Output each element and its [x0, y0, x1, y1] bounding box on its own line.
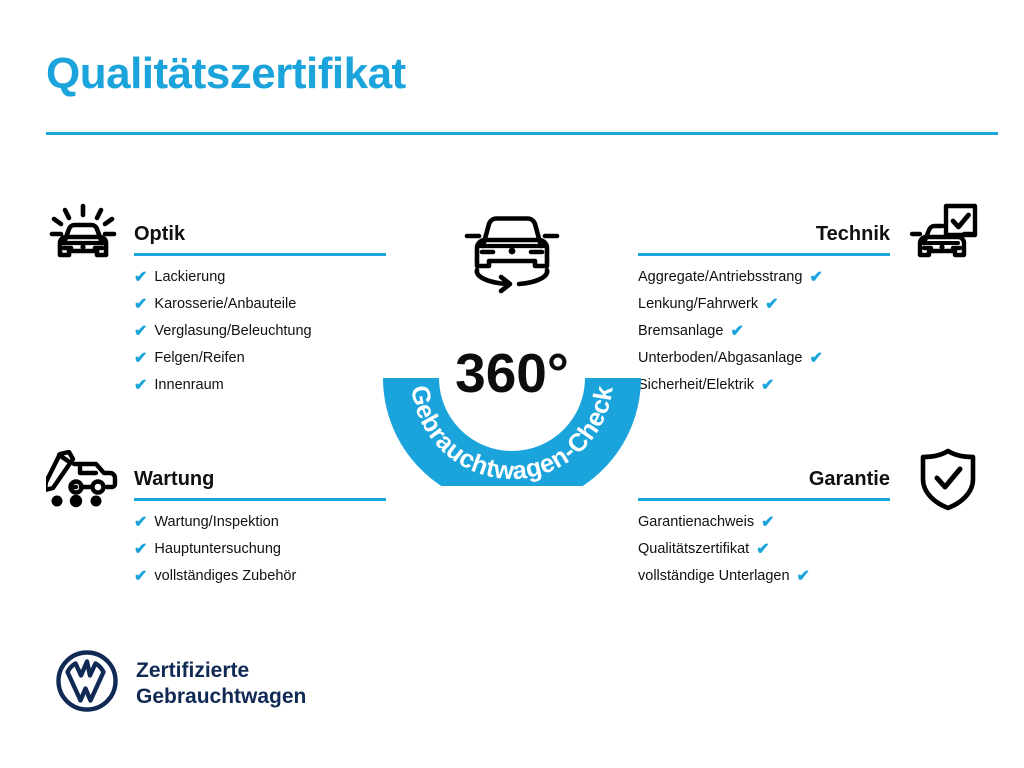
section-rule-optik	[134, 253, 386, 256]
list-item-label: Sicherheit/Elektrik	[638, 378, 754, 393]
section-technik: Technik ✔ Aggregate/Antriebsstrang ✔ Len…	[638, 200, 978, 399]
page-title: Qualitätszertifikat	[46, 50, 406, 98]
section-title-technik: Technik	[816, 223, 890, 246]
list-item-label: Felgen/Reifen	[154, 351, 244, 366]
list-item: ✔ Unterboden/Abgasanlage	[638, 345, 890, 372]
check-icon: ✔	[761, 515, 774, 531]
check-icon: ✔	[756, 542, 769, 558]
section-rule-wartung	[134, 498, 386, 501]
list-item: ✔ Aggregate/Antriebsstrang	[638, 264, 890, 291]
list-item-label: vollständige Unterlagen	[638, 569, 790, 584]
list-item: ✔ Garantienachweis	[638, 509, 890, 536]
list-item-label: Aggregate/Antriebsstrang	[638, 270, 802, 285]
checklist-optik: ✔ Lackierung ✔ Karosserie/Anbauteile ✔ V…	[134, 264, 386, 399]
check-icon: ✔	[809, 351, 822, 367]
column-spacer	[46, 399, 386, 445]
check-icon: ✔	[134, 297, 147, 313]
list-item: ✔ Bremsanlage	[638, 318, 890, 345]
list-item: ✔ vollständige Unterlagen	[638, 563, 890, 590]
list-item: ✔ Qualitätszertifikat	[638, 536, 890, 563]
car-rotate-icon	[467, 219, 557, 292]
list-item-label: Innenraum	[154, 378, 223, 393]
check-icon: ✔	[765, 297, 778, 313]
list-item: ✔ Lackierung	[134, 264, 386, 291]
list-item: ✔ Innenraum	[134, 372, 386, 399]
volkswagen-logo-icon	[56, 650, 118, 717]
check-icon: ✔	[134, 542, 147, 558]
section-rule-technik	[638, 253, 890, 256]
section-title-garantie: Garantie	[809, 468, 890, 491]
badge-360-gebrauchtwagen-check: Gebrauchtwagen-Check 360°	[373, 196, 651, 486]
section-wartung: Wartung ✔ Wartung/Inspektion ✔ Hauptunte…	[46, 445, 386, 590]
section-rule-garantie	[638, 498, 890, 501]
car-checkbox-icon	[898, 202, 978, 266]
badge-center-text: 360°	[455, 342, 569, 404]
check-icon: ✔	[797, 569, 810, 585]
checklist-garantie: ✔ Garantienachweis ✔ Qualitätszertifikat…	[638, 509, 890, 590]
list-item: ✔ Felgen/Reifen	[134, 345, 386, 372]
list-item: ✔ Sicherheit/Elektrik	[638, 372, 890, 399]
checklist-wartung: ✔ Wartung/Inspektion ✔ Hauptuntersuchung…	[134, 509, 386, 590]
list-item-label: Lenkung/Fahrwerk	[638, 297, 758, 312]
list-item-label: Qualitätszertifikat	[638, 542, 749, 557]
check-icon: ✔	[809, 270, 822, 286]
list-item: ✔ Verglasung/Beleuchtung	[134, 318, 386, 345]
list-item: ✔ Hauptuntersuchung	[134, 536, 386, 563]
certificate-page: Qualitätszertifikat	[0, 0, 1024, 768]
check-icon: ✔	[134, 324, 147, 340]
list-item-label: Wartung/Inspektion	[154, 515, 278, 530]
list-item: ✔ Wartung/Inspektion	[134, 509, 386, 536]
column-spacer	[638, 399, 978, 445]
check-icon: ✔	[134, 270, 147, 286]
section-title-wartung: Wartung	[134, 468, 214, 491]
list-item-label: Hauptuntersuchung	[154, 542, 281, 557]
list-item-label: Unterboden/Abgasanlage	[638, 351, 802, 366]
check-icon: ✔	[134, 378, 147, 394]
shield-check-icon	[898, 447, 978, 511]
right-column: Technik ✔ Aggregate/Antriebsstrang ✔ Len…	[638, 200, 978, 590]
pen-car-service-icon	[46, 447, 126, 511]
section-title-optik: Optik	[134, 223, 185, 246]
footer-line-2: Gebrauchtwagen	[136, 684, 306, 710]
car-shine-icon	[46, 202, 126, 266]
title-divider	[46, 132, 998, 135]
check-icon: ✔	[134, 351, 147, 367]
list-item-label: Karosserie/Anbauteile	[154, 297, 296, 312]
checklist-technik: ✔ Aggregate/Antriebsstrang ✔ Lenkung/Fah…	[638, 264, 890, 399]
list-item-label: vollständiges Zubehör	[154, 569, 296, 584]
left-column: Optik ✔ Lackierung ✔ Karosserie/Anbautei…	[46, 200, 386, 590]
footer-logo-block: Zertifizierte Gebrauchtwagen	[56, 650, 306, 717]
list-item: ✔ Lenkung/Fahrwerk	[638, 291, 890, 318]
check-icon: ✔	[134, 569, 147, 585]
footer-wordmark: Zertifizierte Gebrauchtwagen	[136, 658, 306, 709]
list-item: ✔ Karosserie/Anbauteile	[134, 291, 386, 318]
check-icon: ✔	[730, 324, 743, 340]
list-item: ✔ vollständiges Zubehör	[134, 563, 386, 590]
check-icon: ✔	[761, 378, 774, 394]
list-item-label: Garantienachweis	[638, 515, 754, 530]
list-item-label: Verglasung/Beleuchtung	[154, 324, 311, 339]
section-optik: Optik ✔ Lackierung ✔ Karosserie/Anbautei…	[46, 200, 386, 399]
section-garantie: Garantie ✔ Garantienachweis ✔ Qualitätsz…	[638, 445, 978, 590]
check-icon: ✔	[134, 515, 147, 531]
footer-line-1: Zertifizierte	[136, 658, 306, 684]
list-item-label: Lackierung	[154, 270, 225, 285]
